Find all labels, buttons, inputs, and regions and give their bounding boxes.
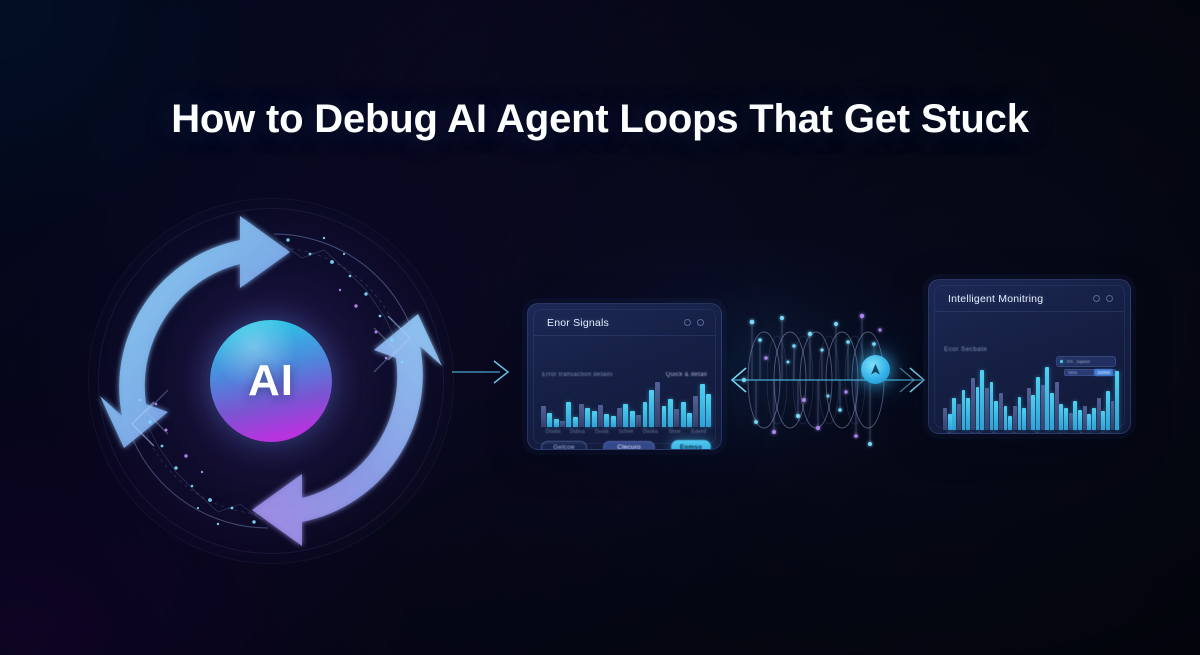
chart-bar xyxy=(566,402,571,427)
primary-button[interactable]: Clecuro xyxy=(603,441,655,451)
chart-bar xyxy=(592,411,597,427)
chart-bar xyxy=(999,393,1003,430)
chart-bar xyxy=(1031,395,1035,430)
chart-bar xyxy=(980,370,984,430)
chart-bar xyxy=(623,404,628,428)
chart-bar xyxy=(943,408,947,430)
flow-arrow-loop-to-panel1 xyxy=(452,358,514,386)
chart-bar xyxy=(547,413,552,427)
chart-bar xyxy=(1064,408,1068,430)
panel-error-actions: Gelcoe Clecuro Eomso xyxy=(541,440,711,450)
chart-bar xyxy=(1087,414,1091,430)
chart-bar xyxy=(573,417,578,427)
chart-bar xyxy=(636,415,641,427)
panel-monitoring-header: Intelligent Monitring xyxy=(935,286,1124,312)
chart-bar xyxy=(668,399,673,427)
chart-bar xyxy=(971,378,975,430)
chart-bar xyxy=(1101,411,1105,430)
ai-feedback-loop: AI xyxy=(88,198,454,564)
secondary-button[interactable]: Gelcoe xyxy=(541,441,587,451)
panel-monitoring-title: Intelligent Monitring xyxy=(948,293,1043,305)
axis-tick-label: Dawa xyxy=(1031,432,1053,434)
chart-bar xyxy=(598,405,603,427)
chart-bar xyxy=(994,401,998,430)
axis-tick-label: Edeed xyxy=(687,429,711,435)
chart-bar xyxy=(966,398,970,430)
helix-spine xyxy=(732,368,924,392)
axis-tick-label: Liveu xyxy=(1053,432,1075,434)
axis-tick-label: Dubca xyxy=(565,429,589,435)
chart-monitoring-xaxis: DowsDotbGosoDorewDawaLiveuDeneCxoue xyxy=(943,432,1119,434)
minimize-dot-icon[interactable] xyxy=(684,319,691,326)
chart-bar xyxy=(579,404,584,427)
ai-core-sphere: AI xyxy=(210,320,332,442)
chart-bar xyxy=(990,382,994,430)
chart-bar xyxy=(630,411,635,427)
chart-bar xyxy=(985,388,989,430)
window-controls[interactable] xyxy=(684,319,704,326)
close-dot-icon[interactable] xyxy=(697,319,704,326)
chart-bar xyxy=(1097,398,1101,430)
chart-bar xyxy=(681,402,686,427)
data-helix-connector xyxy=(730,296,926,464)
chart-bar xyxy=(1059,404,1063,430)
chart-bar xyxy=(585,408,590,427)
chart-bar xyxy=(1018,397,1022,430)
chart-intelligent-monitoring xyxy=(943,358,1119,430)
minimize-dot-icon[interactable] xyxy=(1093,295,1100,302)
chart-bar xyxy=(1045,367,1049,430)
chart-bar xyxy=(952,398,956,430)
panel-monitoring-subtitle: Ecor Secbate xyxy=(944,346,987,353)
chart-bar xyxy=(1027,388,1031,430)
chart-bar xyxy=(976,387,980,430)
chart-bar xyxy=(687,413,692,427)
chart-bar xyxy=(554,419,559,427)
chart-bar xyxy=(706,394,711,427)
panel-error-header: Enor Signals xyxy=(534,310,715,336)
hero-banner: How to Debug AI Agent Loops That Get Stu… xyxy=(0,0,1200,655)
chart-bar xyxy=(957,404,961,430)
chart-bar xyxy=(1078,410,1082,430)
chart-bar xyxy=(1069,413,1073,430)
panel-intelligent-monitoring[interactable]: Intelligent Monitring Ecor Secbate 3% Ju… xyxy=(928,279,1131,434)
axis-tick-label: Stroe xyxy=(662,429,686,435)
chart-bar xyxy=(617,408,622,427)
chart-bar xyxy=(611,416,616,427)
axis-tick-label: Dotb xyxy=(965,432,987,434)
chart-bar xyxy=(1004,406,1008,430)
chart-bar xyxy=(948,414,952,430)
axis-tick-label: Dooia xyxy=(590,429,614,435)
chart-bar xyxy=(1111,401,1115,430)
chart-bar xyxy=(655,382,660,427)
chart-bar xyxy=(560,421,565,427)
window-controls[interactable] xyxy=(1093,295,1113,302)
axis-tick-label: Dorew xyxy=(1009,432,1031,434)
axis-tick-label: Dooka xyxy=(638,429,662,435)
chart-bar xyxy=(1041,385,1045,430)
axis-tick-label: Dene xyxy=(1075,432,1097,434)
chart-bar xyxy=(1092,408,1096,430)
helix-badge[interactable] xyxy=(861,355,890,384)
panel-error-title: Enor Signals xyxy=(547,317,609,329)
chart-error-xaxis: DoobsDubcaDooiaScheeDookaStroeEdeed xyxy=(541,429,711,435)
chart-bar xyxy=(541,406,546,427)
chart-bar xyxy=(674,409,679,427)
axis-tick-label: Cxoue xyxy=(1097,432,1119,434)
panel-error-signals[interactable]: Enor Signals Error transaction details Q… xyxy=(527,303,722,450)
page-title: How to Debug AI Agent Loops That Get Stu… xyxy=(0,97,1200,142)
chart-error-signals xyxy=(541,380,711,427)
chart-bar xyxy=(662,406,667,427)
chart-bar xyxy=(1022,408,1026,430)
close-dot-icon[interactable] xyxy=(1106,295,1113,302)
chart-bar xyxy=(1106,391,1110,430)
chart-bar xyxy=(649,390,654,427)
axis-tick-label: Schee xyxy=(614,429,638,435)
chart-bar xyxy=(643,402,648,427)
chart-bar xyxy=(1073,401,1077,430)
navigation-icon xyxy=(868,362,883,377)
chart-bar xyxy=(962,390,966,430)
ai-core-label: AI xyxy=(248,356,294,406)
panel-error-subtitle: Error transaction details xyxy=(542,372,613,378)
panel-error-badge: Quick & detail xyxy=(666,372,707,378)
chart-bar xyxy=(1036,377,1040,430)
chart-bar xyxy=(700,384,705,427)
axis-tick-label: Doobs xyxy=(541,429,565,435)
accent-button[interactable]: Eomso xyxy=(671,440,711,450)
chart-bar xyxy=(1008,416,1012,430)
axis-tick-label: Goso xyxy=(987,432,1009,434)
chart-bar xyxy=(604,414,609,427)
chart-bar xyxy=(1013,406,1017,430)
axis-tick-label: Dows xyxy=(943,432,965,434)
chart-bar xyxy=(693,396,698,427)
chart-bar xyxy=(1055,382,1059,430)
chart-bar xyxy=(1115,371,1119,430)
chart-bar xyxy=(1083,406,1087,430)
chart-bar xyxy=(1050,393,1054,430)
